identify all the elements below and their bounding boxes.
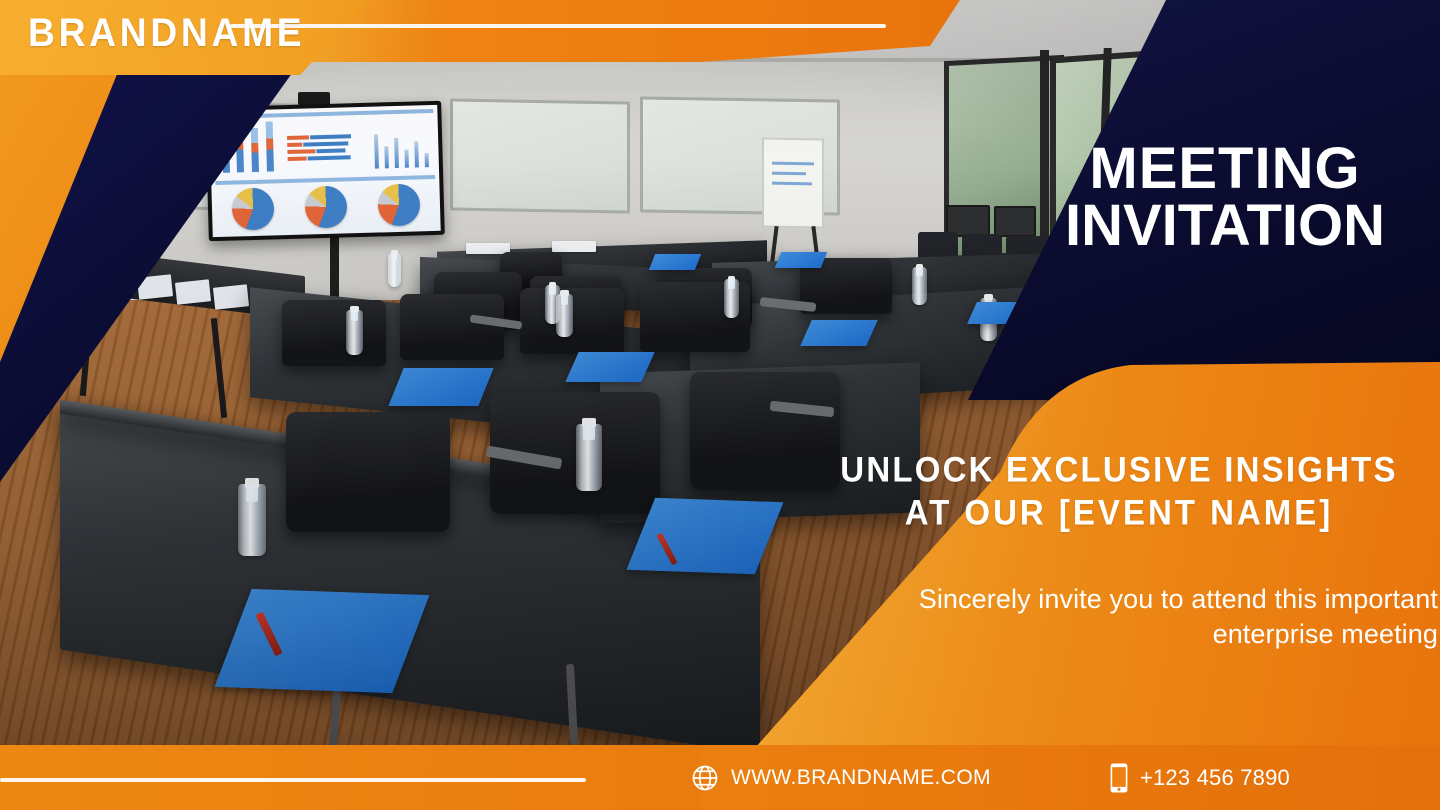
headline-line-2: AT OUR [EVENT NAME] — [806, 491, 1432, 534]
page-title-line-1: MEETING — [1089, 136, 1360, 201]
mobile-phone-icon — [1109, 762, 1129, 794]
page-title-line-2: INVITATION — [1020, 197, 1430, 254]
headline: UNLOCK EXCLUSIVE INSIGHTS AT OUR [EVENT … — [806, 448, 1432, 535]
brand-logo-text: BRANDNAME — [28, 10, 305, 56]
website-label: WWW.BRANDNAME.COM — [731, 766, 991, 790]
invitation-body-line-1: Sincerely invite you to attend this impo… — [919, 584, 1438, 614]
footer-contact-group: WWW.BRANDNAME.COM +123 456 7890 — [690, 745, 1290, 810]
meeting-invitation-poster: BRANDNAME MEETING INVITATION UNLOCK EXCL… — [0, 0, 1440, 810]
globe-icon — [690, 763, 720, 793]
invitation-body-line-2: enterprise meeting — [1213, 619, 1438, 649]
page-title: MEETING INVITATION — [1020, 140, 1430, 255]
phone-label: +123 456 7890 — [1140, 765, 1290, 791]
header-rule — [230, 24, 886, 28]
invitation-body-text: Sincerely invite you to attend this impo… — [790, 582, 1438, 652]
phone-contact[interactable]: +123 456 7890 — [1109, 762, 1290, 794]
headline-line-1: UNLOCK EXCLUSIVE INSIGHTS — [840, 449, 1397, 489]
footer-rule — [0, 778, 586, 782]
website-contact[interactable]: WWW.BRANDNAME.COM — [690, 763, 991, 793]
